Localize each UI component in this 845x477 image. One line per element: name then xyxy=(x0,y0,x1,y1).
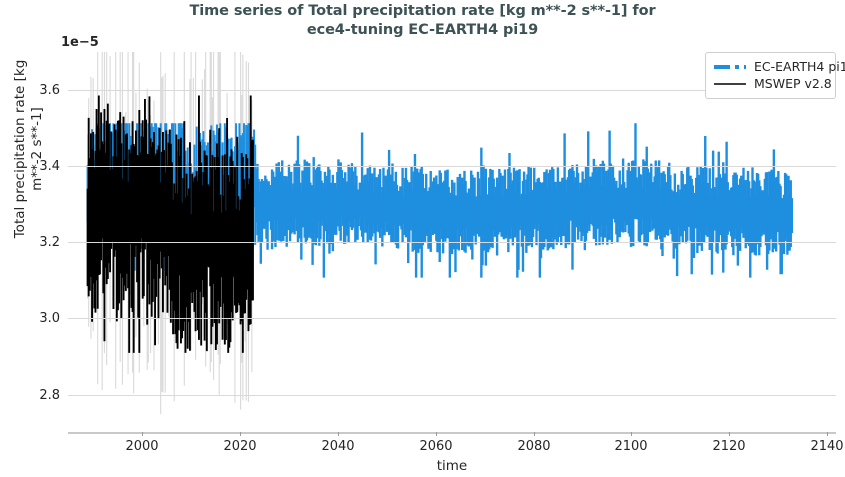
chart-figure: Time series of Total precipitation rate … xyxy=(0,0,845,477)
legend[interactable]: EC-EARTH4 pi19 MSWEP v2.8 xyxy=(705,52,836,99)
legend-entry-ec-earth4-pi19[interactable]: EC-EARTH4 pi19 xyxy=(713,58,828,75)
y-tick-label-2.8: 2.8 xyxy=(8,389,60,402)
x-tick-label-2140: 2140 xyxy=(797,440,845,453)
legend-label-mswep-v2p8: MSWEP v2.8 xyxy=(754,77,832,90)
x-tick-2100 xyxy=(631,432,632,436)
x-tick-2080 xyxy=(534,432,535,436)
x-tick-label-2120: 2120 xyxy=(699,440,759,453)
x-tick-label-2020: 2020 xyxy=(210,440,270,453)
plot-area xyxy=(68,52,836,432)
legend-entry-mswep-v2p8[interactable]: MSWEP v2.8 xyxy=(713,75,828,92)
x-tick-2020 xyxy=(240,432,241,436)
x-tick-2140 xyxy=(827,432,828,436)
gridline-2.8 xyxy=(68,395,836,396)
legend-label-ec-earth4-pi19: EC-EARTH4 pi19 xyxy=(754,60,845,73)
y-tick-label-3.4: 3.4 xyxy=(8,160,60,173)
x-tick-2040 xyxy=(338,432,339,436)
x-tick-2000 xyxy=(142,432,143,436)
x-tick-label-2080: 2080 xyxy=(504,440,564,453)
x-tick-label-2100: 2100 xyxy=(601,440,661,453)
x-axis-spine xyxy=(68,432,836,434)
y-tick-label-3.0: 3.0 xyxy=(8,312,60,325)
x-tick-label-2000: 2000 xyxy=(112,440,172,453)
legend-swatch-dashed-line-icon xyxy=(713,61,747,73)
legend-swatch-solid-line-icon xyxy=(713,78,747,90)
chart-title-line-2: ece4-tuning EC-EARTH4 pi19 xyxy=(0,21,845,40)
chart-title-line-1: Time series of Total precipitation rate … xyxy=(0,2,845,21)
x-tick-label-2060: 2060 xyxy=(406,440,466,453)
chart-title: Time series of Total precipitation rate … xyxy=(0,2,845,40)
y-tick-label-3.2: 3.2 xyxy=(8,236,60,249)
x-tick-2060 xyxy=(436,432,437,436)
x-tick-2120 xyxy=(729,432,730,436)
y-axis-label-line-1: Total precipitation rate [kg xyxy=(12,34,29,264)
gridline-3.4 xyxy=(68,166,836,167)
x-axis-label: time xyxy=(68,459,836,473)
y-axis-offset-text: 1e−5 xyxy=(61,36,99,49)
y-axis-label-line-2: m**-2 s**-1] xyxy=(29,34,46,264)
gridline-3.2 xyxy=(68,242,836,243)
y-tick-label-3.6: 3.6 xyxy=(8,84,60,97)
gridline-3.0 xyxy=(68,318,836,319)
x-tick-label-2040: 2040 xyxy=(308,440,368,453)
y-axis-label: Total precipitation rate [kg m**-2 s**-1… xyxy=(12,34,46,264)
